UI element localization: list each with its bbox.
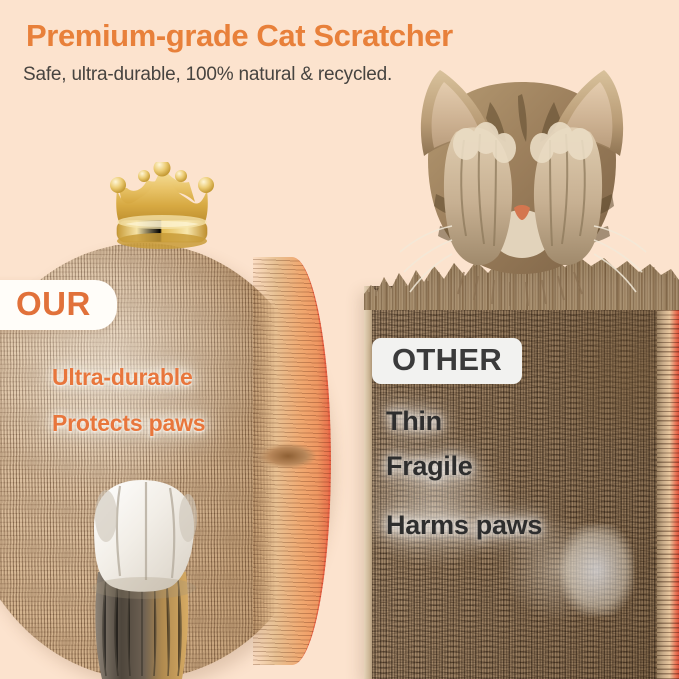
edge-flutes <box>657 286 679 679</box>
page-subtitle: Safe, ultra-durable, 100% natural & recy… <box>23 62 423 88</box>
other-feature-harms-paws: Harms paws <box>386 510 542 541</box>
board-salmon-edge <box>253 257 331 665</box>
paw-illustration <box>76 476 212 679</box>
crown-icon <box>103 162 221 252</box>
our-feature-ultra-durable: Ultra-durable <box>52 364 193 391</box>
our-badge: OUR <box>0 280 117 330</box>
other-feature-thin: Thin <box>386 406 442 437</box>
cat-illustration <box>394 48 654 310</box>
crown-illustration <box>103 162 221 252</box>
facepalm-cat-icon <box>394 48 654 310</box>
our-feature-protects-paws: Protects paws <box>52 410 205 437</box>
board-right-edge-strip <box>657 286 679 679</box>
worn-patch <box>560 524 634 616</box>
cat-paw-icon <box>76 476 212 679</box>
other-badge: OTHER <box>372 338 522 384</box>
page-title: Premium-grade Cat Scratcher <box>26 18 453 54</box>
other-feature-fragile: Fragile <box>386 451 472 482</box>
other-scratcher-panel: OTHER Thin Fragile Harms paws <box>364 286 679 679</box>
product-comparison-image: Premium-grade Cat Scratcher Safe, ultra-… <box>0 0 679 679</box>
board-left-edge-strip <box>364 286 372 679</box>
edge-notch <box>259 443 317 469</box>
